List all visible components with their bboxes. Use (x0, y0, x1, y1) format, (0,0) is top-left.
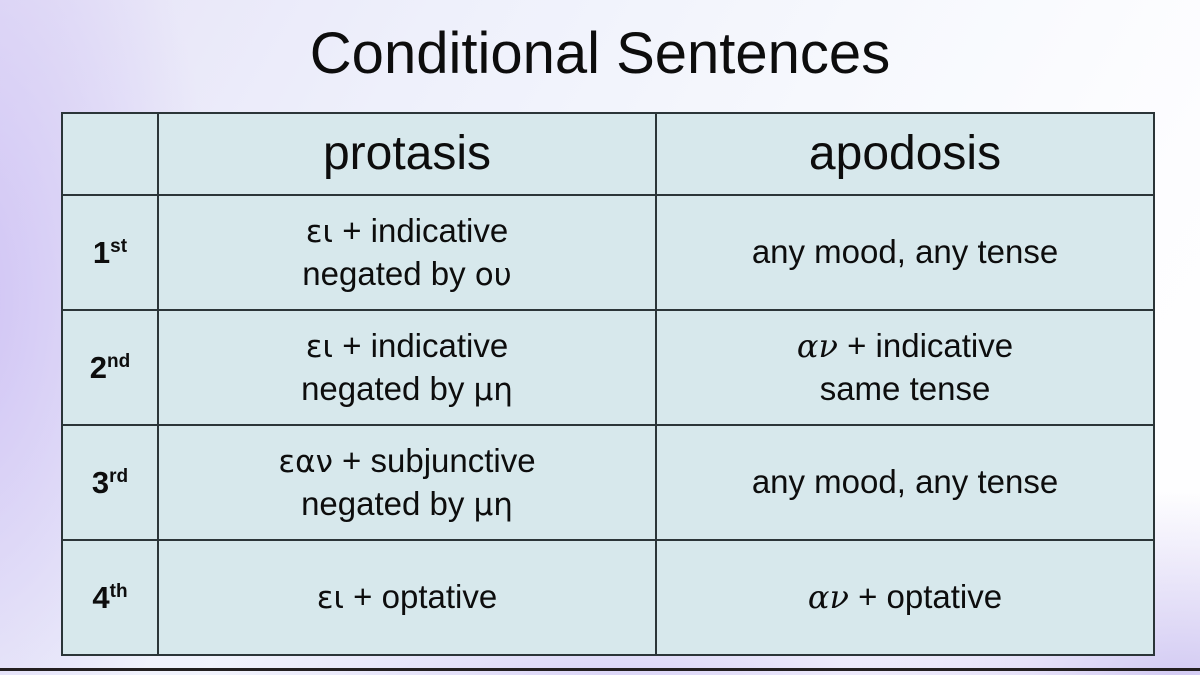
table-row: 4th ει + optative αν + optative (62, 540, 1154, 655)
ordinal-number: 4 (92, 580, 109, 615)
greek-term: αν (797, 327, 838, 365)
greek-term: αν (808, 578, 849, 616)
line-rest: + optative (849, 578, 1002, 615)
protasis-2-line1: ει + indicative (159, 325, 655, 368)
cell-apodosis-4: αν + optative (656, 540, 1154, 655)
conditional-sentences-table: protasis apodosis 1st ει + indicative ne… (61, 112, 1153, 651)
ordinal-suffix: st (110, 236, 127, 257)
ordinal-suffix: rd (109, 466, 128, 487)
greek-term: ει (306, 214, 333, 250)
apodosis-4-line1: αν + optative (657, 576, 1153, 618)
line-rest: + indicative (333, 327, 508, 364)
greek-term: μη (474, 487, 513, 523)
row-ordinal-3: 3rd (62, 425, 158, 540)
ordinal-suffix: th (110, 581, 128, 602)
ordinal-number: 1 (93, 235, 110, 270)
greek-term: ου (475, 257, 512, 293)
line-rest: + subjunctive (333, 442, 536, 479)
row-ordinal-2: 2nd (62, 310, 158, 425)
slide-canvas: Conditional Sentences protasis apodosis … (0, 0, 1200, 675)
line-prefix: negated by (302, 255, 474, 292)
row-ordinal-1: 1st (62, 195, 158, 310)
cell-protasis-1: ει + indicative negated by ου (158, 195, 656, 310)
greek-term: ει (306, 329, 333, 365)
cell-apodosis-2: αν + indicative same tense (656, 310, 1154, 425)
table-row: 1st ει + indicative negated by ου any mo… (62, 195, 1154, 310)
protasis-3-line1: εαν + subjunctive (159, 440, 655, 483)
cell-protasis-3: εαν + subjunctive negated by μη (158, 425, 656, 540)
cell-apodosis-3: any mood, any tense (656, 425, 1154, 540)
page-title: Conditional Sentences (0, 24, 1200, 85)
column-header-apodosis: apodosis (656, 113, 1154, 195)
apodosis-1-line1: any mood, any tense (657, 231, 1153, 273)
column-header-protasis: protasis (158, 113, 656, 195)
line-prefix: negated by (301, 370, 473, 407)
cell-protasis-2: ει + indicative negated by μη (158, 310, 656, 425)
protasis-3-line2: negated by μη (159, 483, 655, 526)
table-grid: protasis apodosis 1st ει + indicative ne… (61, 112, 1155, 656)
table-row: 3rd εαν + subjunctive negated by μη any … (62, 425, 1154, 540)
ordinal-number: 3 (92, 465, 109, 500)
cell-apodosis-1: any mood, any tense (656, 195, 1154, 310)
greek-term: εαν (278, 444, 333, 480)
ordinal-suffix: nd (107, 351, 130, 372)
apodosis-2-line1: αν + indicative (657, 325, 1153, 367)
line-rest: any mood, any tense (752, 233, 1058, 270)
line-rest: any mood, any tense (752, 463, 1058, 500)
row-ordinal-4: 4th (62, 540, 158, 655)
line-rest: + indicative (333, 212, 508, 249)
table-row: 2nd ει + indicative negated by μη αν + i… (62, 310, 1154, 425)
apodosis-3-line1: any mood, any tense (657, 461, 1153, 503)
cell-protasis-4: ει + optative (158, 540, 656, 655)
header-ordinal-spacer (62, 113, 158, 195)
line-rest: + optative (344, 578, 497, 615)
protasis-2-line2: negated by μη (159, 368, 655, 411)
protasis-4-line1: ει + optative (159, 576, 655, 619)
line-prefix: negated by (301, 485, 473, 522)
protasis-1-line2: negated by ου (159, 253, 655, 296)
line-rest: + indicative (838, 327, 1013, 364)
apodosis-2-line2: same tense (657, 368, 1153, 410)
greek-term: ει (317, 580, 344, 616)
table-header-row: protasis apodosis (62, 113, 1154, 195)
protasis-1-line1: ει + indicative (159, 210, 655, 253)
greek-term: μη (474, 372, 513, 408)
ordinal-number: 2 (90, 350, 107, 385)
